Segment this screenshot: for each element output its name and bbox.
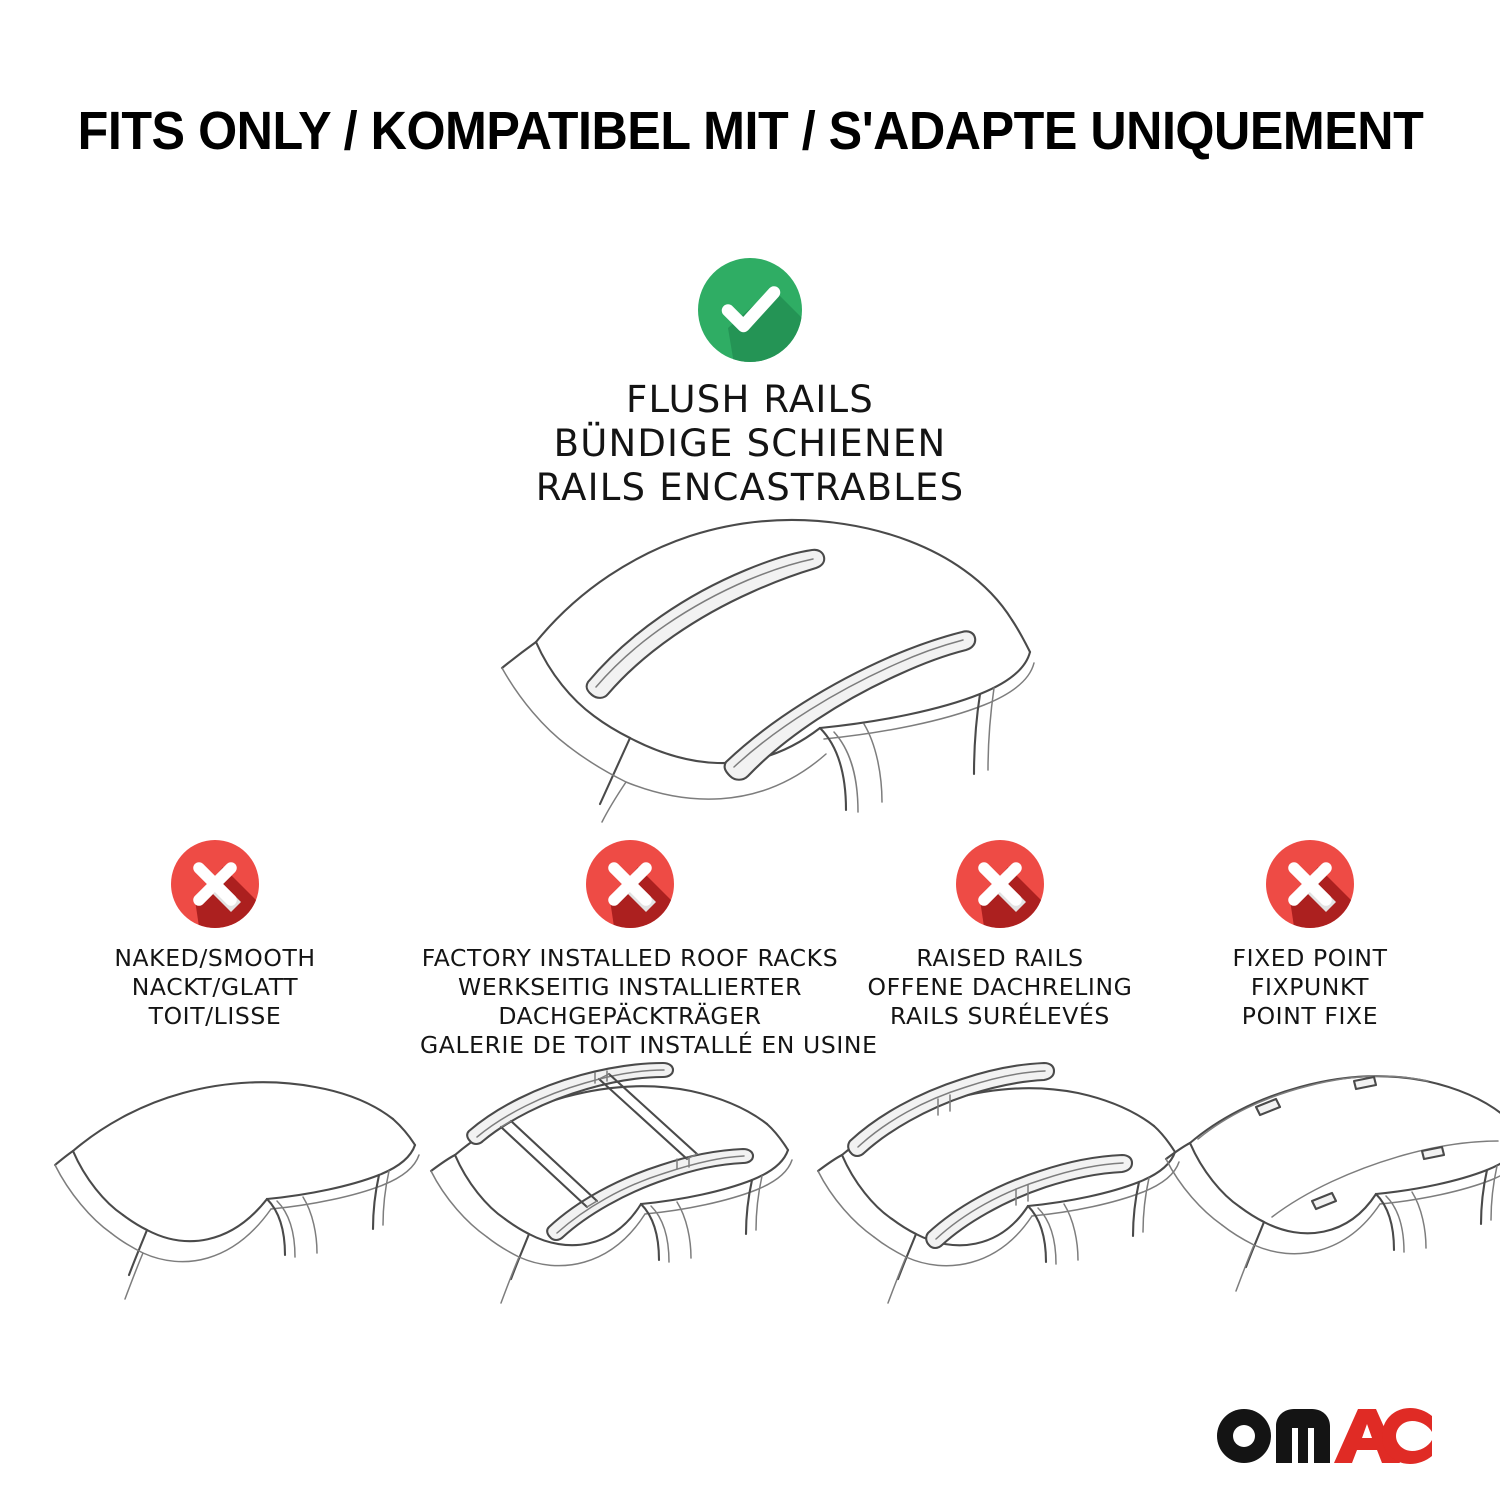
incompatible-section: NAKED/SMOOTH NACKT/GLATT TOIT/LISSE FACT… xyxy=(0,840,1500,1070)
car-roof-naked-illustration xyxy=(55,1055,445,1305)
car-roof-fixed-point-illustration xyxy=(1160,1055,1500,1305)
incompatible-label-fr: POINT FIXE xyxy=(1165,1002,1455,1031)
incompatible-label-de: FIXPUNKT xyxy=(1165,973,1455,1002)
incompatible-labels: RAISED RAILS OFFENE DACHRELING RAILS SUR… xyxy=(845,944,1155,1031)
x-circle-icon xyxy=(171,840,259,928)
compatible-labels: FLUSH RAILS BÜNDIGE SCHIENEN RAILS ENCAS… xyxy=(0,378,1500,510)
incompatible-labels: NAKED/SMOOTH NACKT/GLATT TOIT/LISSE xyxy=(15,944,415,1031)
incompatible-item-naked-smooth: NAKED/SMOOTH NACKT/GLATT TOIT/LISSE xyxy=(15,840,415,1031)
x-circle-icon xyxy=(956,840,1044,928)
incompatible-label-de-1: WERKSEITIG INSTALLIERTER xyxy=(420,973,840,1002)
check-circle-icon xyxy=(698,258,802,362)
car-roof-flush-rails-illustration xyxy=(440,492,1080,822)
incompatible-label-fr: RAILS SURÉLEVÉS xyxy=(845,1002,1155,1031)
incompatible-label-en: FIXED POINT xyxy=(1165,944,1455,973)
incompatible-labels: FACTORY INSTALLED ROOF RACKS WERKSEITIG … xyxy=(420,944,840,1060)
x-circle-icon xyxy=(586,840,674,928)
incompatible-item-factory-installed-roof-racks: FACTORY INSTALLED ROOF RACKS WERKSEITIG … xyxy=(420,840,840,1060)
incompatible-label-en: FACTORY INSTALLED ROOF RACKS xyxy=(420,944,840,973)
incompatible-label-fr: TOIT/LISSE xyxy=(15,1002,415,1031)
compatible-label-de: BÜNDIGE SCHIENEN xyxy=(0,422,1500,466)
x-circle-icon xyxy=(1266,840,1354,928)
incompatible-label-de-2: DACHGEPÄCKTRÄGER xyxy=(420,1002,840,1031)
incompatible-labels: FIXED POINT FIXPUNKT POINT FIXE xyxy=(1165,944,1455,1031)
incompatible-item-fixed-point: FIXED POINT FIXPUNKT POINT FIXE xyxy=(1165,840,1455,1031)
car-roof-factory-rack-illustration xyxy=(425,1055,815,1305)
omac-logo xyxy=(1216,1404,1436,1468)
logo-letter-m xyxy=(1276,1409,1330,1463)
compatible-label-en: FLUSH RAILS xyxy=(0,378,1500,422)
page-title: FITS ONLY / KOMPATIBEL MIT / S'ADAPTE UN… xyxy=(77,104,1423,158)
car-roof-raised-rails-illustration xyxy=(810,1055,1200,1305)
incompatible-item-raised-rails: RAISED RAILS OFFENE DACHRELING RAILS SUR… xyxy=(845,840,1155,1031)
incompatible-label-en: NAKED/SMOOTH xyxy=(15,944,415,973)
incompatible-label-de: OFFENE DACHRELING xyxy=(845,973,1155,1002)
compatible-section: FLUSH RAILS BÜNDIGE SCHIENEN RAILS ENCAS… xyxy=(0,258,1500,510)
header: FITS ONLY / KOMPATIBEL MIT / S'ADAPTE UN… xyxy=(0,104,1500,158)
incompatible-label-de: NACKT/GLATT xyxy=(15,973,415,1002)
incompatible-label-en: RAISED RAILS xyxy=(845,944,1155,973)
